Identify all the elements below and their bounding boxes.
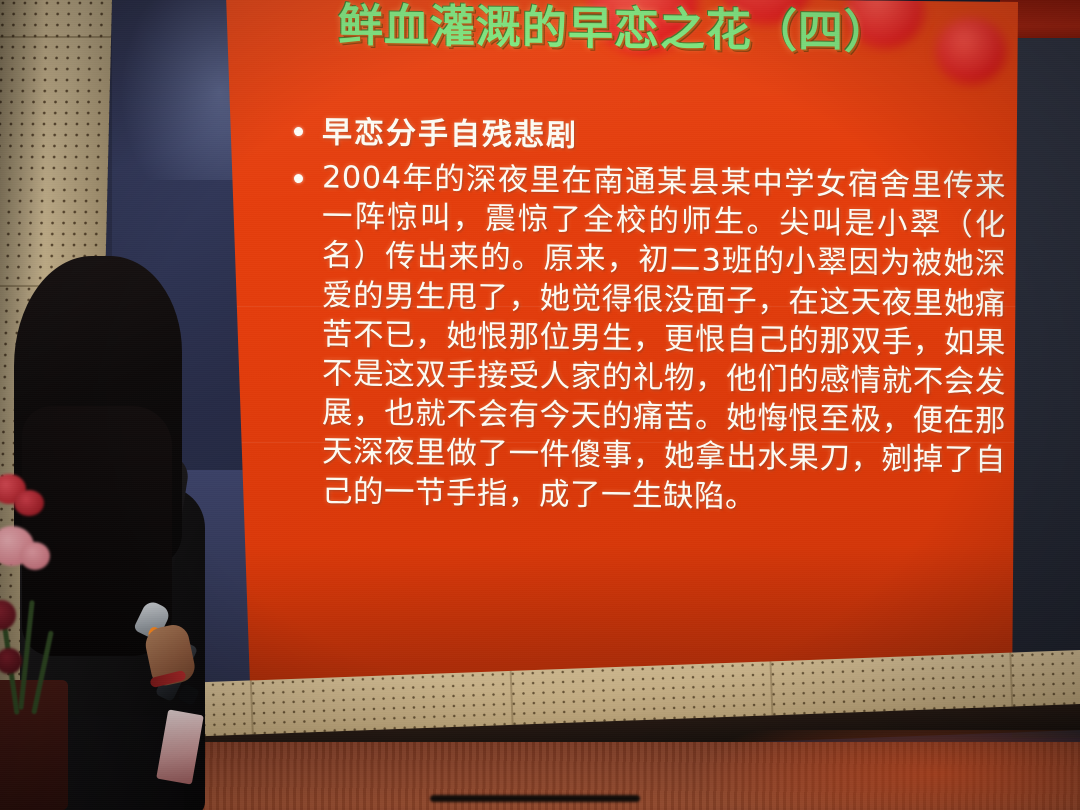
- screenshot-root: 鲜血灌溉的早恋之花（四） 早恋分手自残悲剧 2004年的深夜里在南通某县某中学女…: [0, 0, 1080, 810]
- slide-content: 鲜血灌溉的早恋之花（四） 早恋分手自残悲剧 2004年的深夜里在南通某县某中学女…: [218, 0, 1018, 700]
- slide-bullet-item: 2004年的深夜里在南通某县某中学女宿舍里传来一阵惊叫，震惊了全校的师生。尖叫是…: [276, 158, 1006, 520]
- slide-bullet-text: 2004年的深夜里在南通某县某中学女宿舍里传来一阵惊叫，震惊了全校的师生。尖叫是…: [322, 158, 1006, 520]
- flower-arrangement: [0, 480, 100, 810]
- flower-bloom: [0, 600, 16, 630]
- slide-bullet-text: 早恋分手自残悲剧: [322, 113, 1006, 161]
- projection-screen[interactable]: 鲜血灌溉的早恋之花（四） 早恋分手自残悲剧 2004年的深夜里在南通某县某中学女…: [218, 0, 1018, 700]
- panel-seam: [0, 36, 111, 38]
- floor-cable: [430, 795, 640, 802]
- screen-panel-line: [218, 442, 1018, 443]
- slide-title: 鲜血灌溉的早恋之花（四）: [338, 2, 998, 58]
- slide-body: 早恋分手自残悲剧 2004年的深夜里在南通某县某中学女宿舍里传来一阵惊叫，震惊了…: [276, 113, 1006, 526]
- flower-bloom: [14, 490, 44, 516]
- dark-right-wall: [1012, 38, 1080, 738]
- bullet-dot-icon: [294, 127, 303, 136]
- flower-bloom: [0, 648, 22, 674]
- bullet-dot-icon: [294, 174, 303, 183]
- flower-bloom: [20, 542, 50, 570]
- slide-bullet-item: 早恋分手自残悲剧: [276, 113, 1006, 162]
- screen-panel-line: [218, 306, 1018, 307]
- floor-light-reflection: [700, 730, 1080, 810]
